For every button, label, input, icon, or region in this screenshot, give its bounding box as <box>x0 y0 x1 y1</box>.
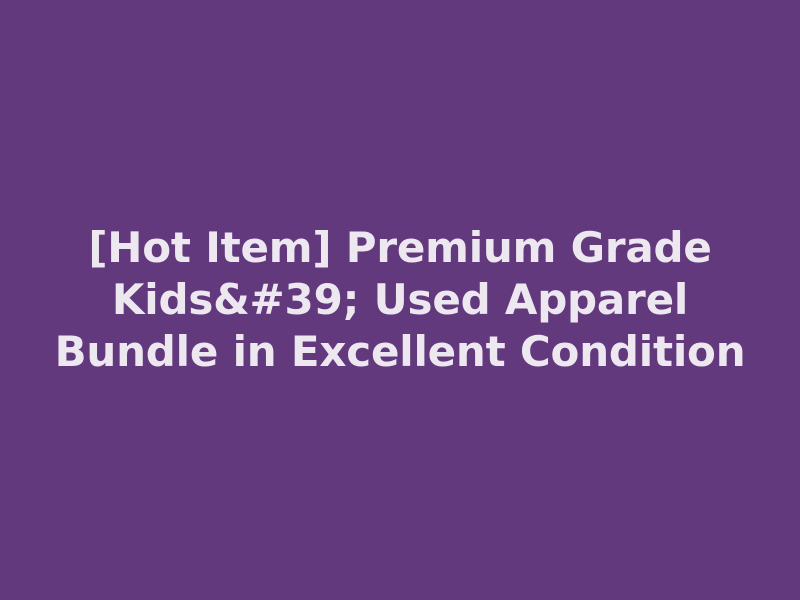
product-title: [Hot Item] Premium Grade Kids&#39; Used … <box>50 222 750 378</box>
title-block: [Hot Item] Premium Grade Kids&#39; Used … <box>40 222 760 378</box>
image-placeholder-card: [Hot Item] Premium Grade Kids&#39; Used … <box>0 0 800 600</box>
